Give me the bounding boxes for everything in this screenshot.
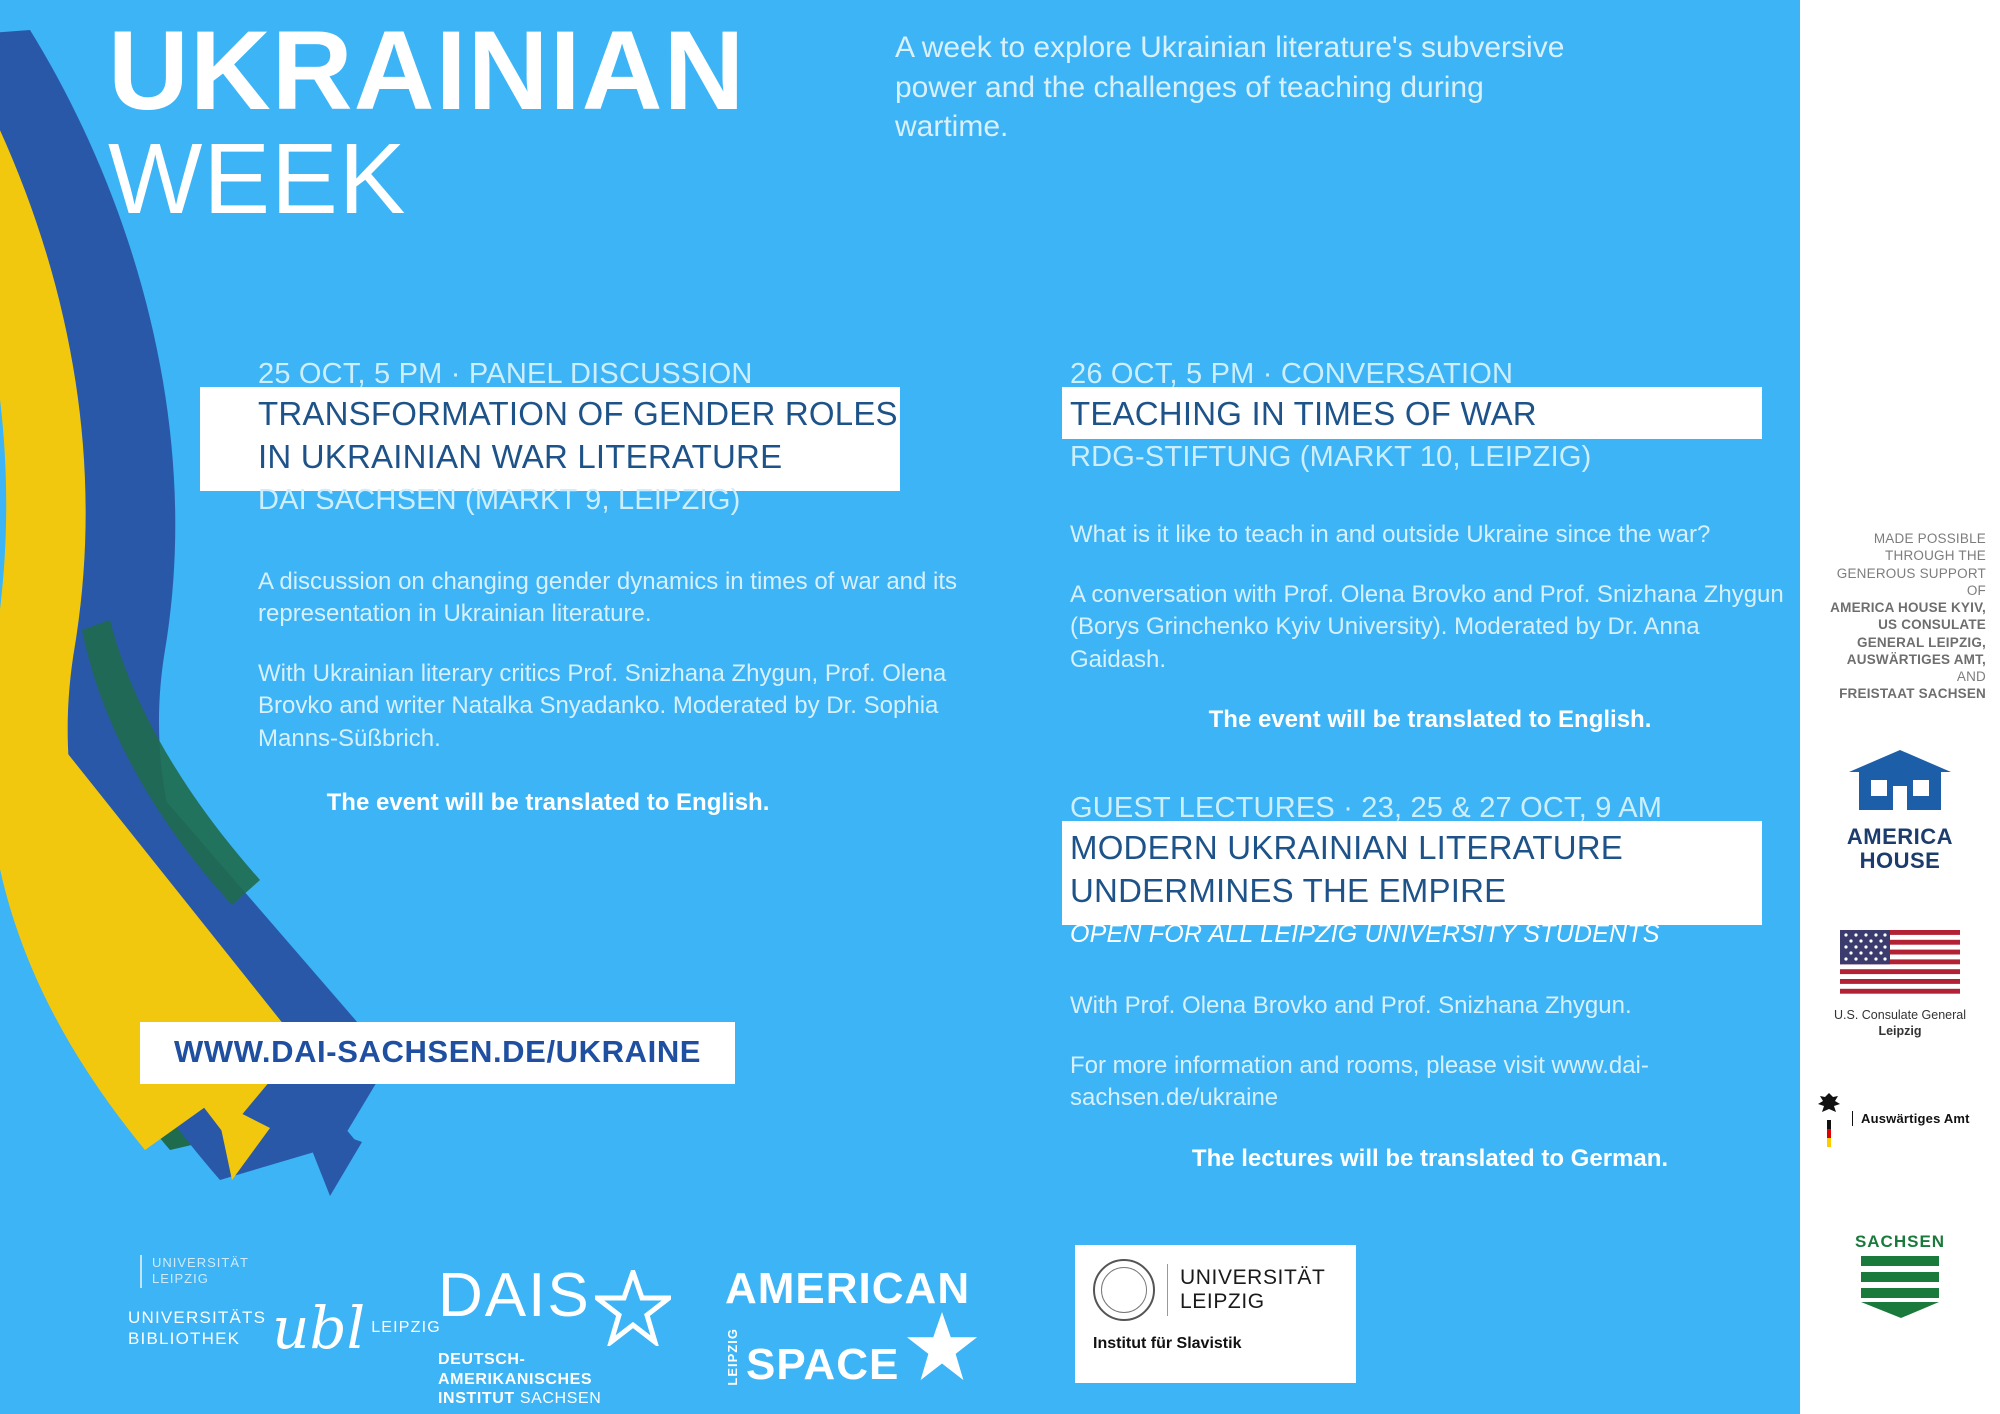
dais-sub-line-3: INSTITUT [438, 1390, 515, 1407]
events-column-left: 25 OCT, 5 PM · PANEL DISCUSSION TRANSFOR… [258, 358, 958, 827]
event-translation-note: The event will be translated to English. [258, 789, 838, 817]
logo-america-house: AMERICA HOUSE [1800, 748, 2000, 873]
credit-line-3: GENEROUS SUPPORT [1800, 565, 1986, 582]
event-title-line-2: IN UKRAINIAN WAR LITERATURE [258, 436, 958, 479]
event-kicker: 26 OCT, 5 PM · CONVERSATION [1070, 358, 1790, 391]
uls-name-line-1: UNIVERSITÄT [1180, 1266, 1325, 1290]
university-seal-icon [1093, 1259, 1155, 1321]
event-subtitle: OPEN FOR ALL LEIPZIG UNIVERSITY STUDENTS [1070, 919, 1790, 950]
ubl-line-2: BIBLIOTHEK [128, 1328, 266, 1349]
auswaertiges-amt-label: Auswärtiges Amt [1861, 1111, 1970, 1126]
logo-uni-leipzig-slavistik: UNIVERSITÄT LEIPZIG Institut für Slavist… [1075, 1245, 1356, 1383]
logo-dais: DAIS DEUTSCH- AMERIKANISCHES INSTITUT SA… [438, 1268, 671, 1409]
poster-headline: UKRAINIAN WEEK [108, 18, 745, 229]
event-translation-note: The event will be translated to English. [1070, 706, 1790, 734]
headline-line-week: WEEK [108, 129, 745, 229]
website-url-text: WWW.DAI-SACHSEN.DE/UKRAINE [174, 1034, 701, 1069]
poster-root: UKRAINIAN WEEK A week to explore Ukraini… [0, 0, 2000, 1414]
uls-institute-label: Institut für Slavistik [1093, 1335, 1338, 1353]
credit-line-10: FREISTAAT SACHSEN [1839, 686, 1986, 701]
event-description-2: With Ukrainian literary critics Prof. Sn… [258, 658, 958, 754]
us-consulate-line-1: U.S. Consulate General [1834, 1008, 1966, 1022]
star-icon [905, 1310, 979, 1384]
event-card-conversation: 26 OCT, 5 PM · CONVERSATION TEACHING IN … [1070, 358, 1790, 734]
logo-us-consulate: U.S. Consulate General Leipzig [1800, 930, 2000, 1040]
sachsen-label: SACHSEN [1800, 1232, 2000, 1252]
american-space-vertical-label: LEIPZIG [725, 1328, 740, 1386]
american-space-line-1: AMERICAN [725, 1268, 979, 1310]
america-house-line-2: HOUSE [1800, 849, 2000, 873]
dais-sub-line-2: AMERIKANISCHES [438, 1370, 671, 1390]
logo-auswaertiges-amt: Auswärtiges Amt [1800, 1090, 2000, 1147]
uni-leipzig-line-1: UNIVERSITÄT [152, 1255, 249, 1271]
logo-universitaet-leipzig-small: UNIVERSITÄT LEIPZIG [140, 1255, 249, 1288]
event-translation-note: The lectures will be translated to Germa… [1070, 1145, 1790, 1173]
event-title-line-2: UNDERMINES THE EMPIRE [1070, 870, 1790, 913]
us-consulate-line-2: Leipzig [1800, 1023, 2000, 1039]
event-card-panel-discussion: 25 OCT, 5 PM · PANEL DISCUSSION TRANSFOR… [258, 358, 958, 817]
support-credit-block: MADE POSSIBLE THROUGH THE GENEROUS SUPPO… [1800, 530, 1994, 703]
event-description-2: A conversation with Prof. Olena Brovko a… [1070, 579, 1790, 675]
event-description-1: What is it like to teach in and outside … [1070, 519, 1790, 551]
headline-line-ukrainian: UKRAINIAN [108, 18, 745, 123]
house-icon [1845, 748, 1955, 812]
poster-tagline: A week to explore Ukrainian literature's… [895, 28, 1595, 147]
event-description-1: With Prof. Olena Brovko and Prof. Snizha… [1070, 990, 1790, 1022]
dais-sub-line-3-thin: SACHSEN [520, 1390, 602, 1407]
us-flag-icon [1840, 930, 1960, 994]
credit-line-9: AND [1800, 668, 1986, 685]
credit-line-4: OF [1800, 582, 1986, 599]
event-card-guest-lectures: GUEST LECTURES · 23, 25 & 27 OCT, 9 AM M… [1070, 792, 1790, 1173]
credit-line-1: MADE POSSIBLE [1800, 530, 1986, 547]
event-kicker: 25 OCT, 5 PM · PANEL DISCUSSION [258, 358, 958, 391]
american-space-line-2: SPACE [746, 1344, 899, 1386]
events-column-right: 26 OCT, 5 PM · CONVERSATION TEACHING IN … [1070, 358, 1790, 1183]
poster-canvas: UKRAINIAN WEEK A week to explore Ukraini… [0, 0, 1800, 1414]
sponsor-rail: MADE POSSIBLE THROUGH THE GENEROUS SUPPO… [1800, 0, 2000, 1414]
logo-freistaat-sachsen: SACHSEN [1800, 1232, 2000, 1323]
ubl-line-1: UNIVERSITÄTS [128, 1307, 266, 1328]
credit-line-7: GENERAL LEIPZIG, [1857, 635, 1986, 650]
event-title-line-1: TEACHING IN TIMES OF WAR [1070, 393, 1790, 436]
dais-sub-line-1: DEUTSCH- [438, 1350, 671, 1370]
america-house-line-1: AMERICA [1800, 825, 2000, 849]
logo-universitaetsbibliothek-leipzig: UNIVERSITÄTS BIBLIOTHEK ubl LEIPZIG [128, 1305, 441, 1351]
uls-name-line-2: LEIPZIG [1180, 1290, 1325, 1314]
uni-leipzig-line-2: LEIPZIG [152, 1271, 249, 1287]
ubl-suffix: LEIPZIG [371, 1319, 441, 1337]
dais-wordmark: DAIS [438, 1268, 591, 1324]
event-venue: RDG-STIFTUNG (MARKT 10, LEIPZIG) [1070, 440, 1790, 475]
logo-american-space: AMERICAN LEIPZIG SPACE [725, 1268, 979, 1386]
website-url-band[interactable]: WWW.DAI-SACHSEN.DE/UKRAINE [140, 1022, 735, 1084]
bundesadler-icon [1814, 1090, 1844, 1120]
credit-line-2: THROUGH THE [1800, 547, 1986, 564]
event-venue: DAI SACHSEN (MARKT 9, LEIPZIG) [258, 483, 958, 518]
event-description-2: For more information and rooms, please v… [1070, 1050, 1790, 1114]
credit-line-5: AMERICA HOUSE KYIV, [1830, 600, 1986, 615]
event-title-line-1: MODERN UKRAINIAN LITERATURE [1070, 827, 1790, 870]
star-icon [595, 1270, 671, 1346]
sachsen-rautenkranz-icon [1861, 1256, 1939, 1318]
event-kicker: GUEST LECTURES · 23, 25 & 27 OCT, 9 AM [1070, 792, 1790, 825]
credit-line-6: US CONSULATE [1878, 617, 1986, 632]
ubl-script-mark: ubl [272, 1305, 365, 1351]
event-description-1: A discussion on changing gender dynamics… [258, 566, 958, 630]
credit-line-8: AUSWÄRTIGES AMT, [1847, 652, 1986, 667]
event-title-line-1: TRANSFORMATION OF GENDER ROLES [258, 393, 958, 436]
